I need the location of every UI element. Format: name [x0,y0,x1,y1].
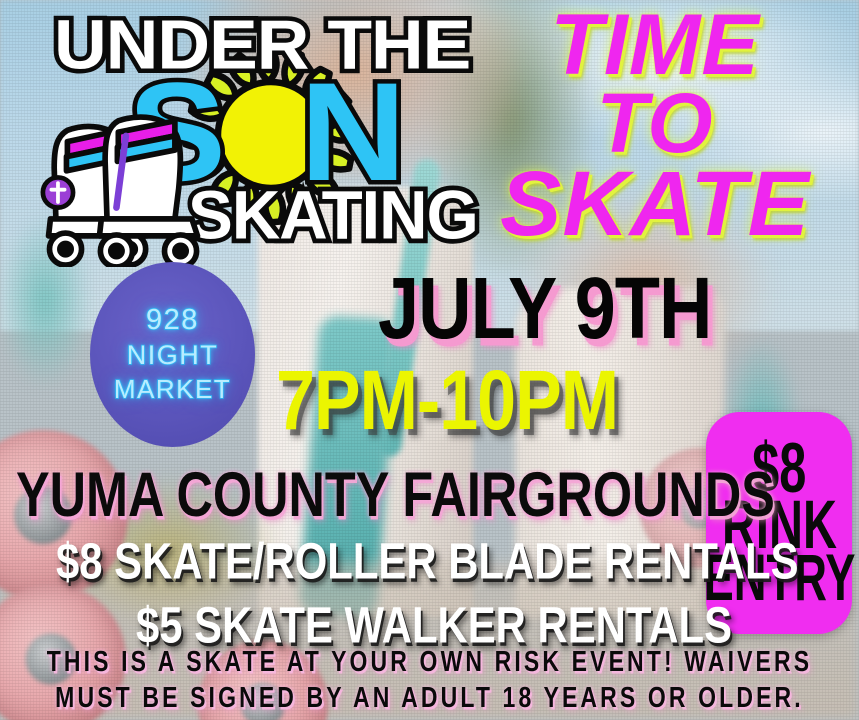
headline-line-skate: SKATE [455,162,855,247]
event-time: 7PM-10PM [276,352,618,448]
night-market-line-market: MARKET [114,374,231,405]
headline-line-to: TO [455,85,855,162]
roller-skates-icon [12,102,202,267]
logo-line-under-the: UNDER THE [54,6,470,86]
headline-time-to-skate: TIME TO SKATE [455,6,855,247]
event-flyer: UNDER THE S N SKATING [0,0,859,720]
rental-price-skates: $8 SKATE/ROLLER BLADE RENTALS [56,532,799,591]
night-market-line-night: NIGHT [127,340,219,371]
disclaimer-line-2: MUST BE SIGNED BY AN ADULT 18 YEARS OR O… [34,682,824,715]
logo-line-skating: SKATING [188,176,478,255]
headline-line-time: TIME [455,6,855,85]
night-market-badge: 928 NIGHT MARKET [90,262,255,447]
night-market-line-928: 928 [146,304,199,337]
event-date: JULY 9TH [378,258,711,358]
disclaimer-line-1: THIS IS A SKATE AT YOUR OWN RISK EVENT! … [34,646,824,679]
venue-name: YUMA COUNTY FAIRGROUNDS [16,458,775,531]
brand-logo: UNDER THE S N SKATING [10,4,440,259]
